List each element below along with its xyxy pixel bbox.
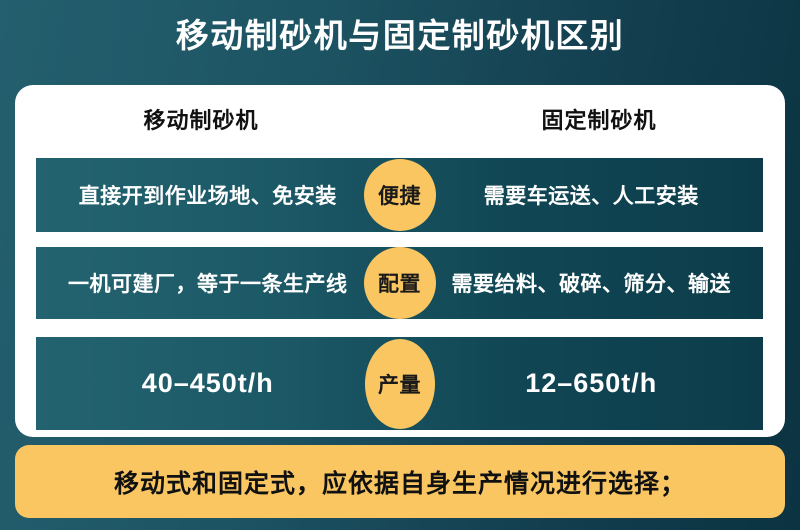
column-header-right: 固定制砂机 <box>434 103 764 135</box>
footer-text: 移动式和固定式，应依据自身生产情况进行选择； <box>114 464 686 500</box>
row-badge: 便捷 <box>364 159 436 231</box>
row-badge: 配置 <box>364 247 436 319</box>
infographic-canvas: 移动制砂机与固定制砂机区别 移动制砂机 固定制砂机 直接开到作业场地、免安装 便… <box>0 0 800 530</box>
row-value-right: 需要给料、破碎、筛分、输送 <box>400 268 764 298</box>
comparison-row: 40–450t/h 产量 12–650t/h <box>36 337 763 430</box>
row-badge: 产量 <box>365 339 435 429</box>
comparison-row: 直接开到作业场地、免安装 便捷 需要车运送、人工安装 <box>36 158 763 232</box>
row-value-left: 直接开到作业场地、免安装 <box>36 180 400 210</box>
column-header-left: 移动制砂机 <box>36 103 366 135</box>
row-value-right: 需要车运送、人工安装 <box>400 180 764 210</box>
row-value-left: 一机可建厂，等于一条生产线 <box>36 268 400 298</box>
page-title: 移动制砂机与固定制砂机区别 <box>0 14 800 58</box>
row-value-left: 40–450t/h <box>36 368 400 399</box>
footer-banner: 移动式和固定式，应依据自身生产情况进行选择； <box>15 445 785 518</box>
row-value-right: 12–650t/h <box>400 368 764 399</box>
comparison-row: 一机可建厂，等于一条生产线 配置 需要给料、破碎、筛分、输送 <box>36 247 763 319</box>
